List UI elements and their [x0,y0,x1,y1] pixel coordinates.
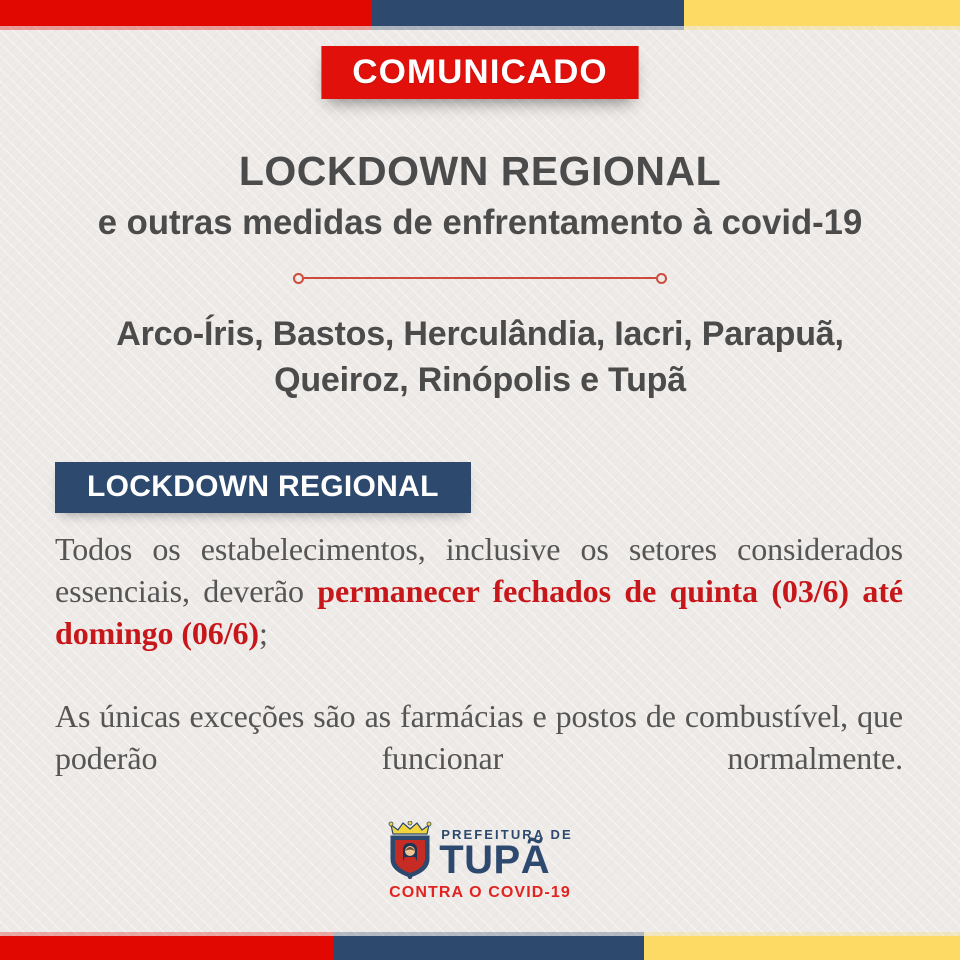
decorative-divider [0,270,960,286]
paragraph-exceptions: As únicas exceções são as farmácias e po… [55,695,903,822]
paragraph-lockdown-dates: Todos os estabelecimentos, inclusive os … [55,528,903,655]
comunicado-banner: COMUNICADO [321,46,638,99]
divider-dot-right-icon [656,273,667,284]
bottom-color-bar [0,936,960,960]
poster: COMUNICADO LOCKDOWN REGIONAL e outras me… [0,0,960,960]
cities-line-2: Queiroz, Rinópolis e Tupã [40,358,920,404]
banner-container: COMUNICADO [0,46,960,99]
bottom-bar-segment-yellow [644,936,960,960]
logo-city-name: TUPÃ [439,842,573,879]
top-bar-segment-yellow [684,0,960,26]
bottom-bar-segment-blue [334,936,644,960]
body-content: Todos os estabelecimentos, inclusive os … [55,528,903,821]
cities-line-1: Arco-Íris, Bastos, Herculândia, Iacri, P… [40,312,920,358]
affected-cities-list: Arco-Íris, Bastos, Herculândia, Iacri, P… [40,312,920,404]
logo-row: PREFEITURA DE TUPÃ [387,821,573,879]
page-subtitle: e outras medidas de enfrentamento à covi… [5,202,955,244]
coat-of-arms-icon [387,821,433,879]
divider-dot-left-icon [293,273,304,284]
bottom-bar-segment-red [0,936,334,960]
headline-block: LOCKDOWN REGIONAL e outras medidas de en… [0,148,960,244]
top-bar-segment-blue [372,0,684,26]
top-bar-segment-red [0,0,372,26]
page-title: LOCKDOWN REGIONAL [0,148,960,195]
paragraph1-text-part2: ; [259,615,268,651]
top-color-bar [0,0,960,26]
divider-inner [293,273,667,284]
divider-line [304,277,656,279]
logo-text: PREFEITURA DE TUPÃ [439,828,573,879]
prefeitura-logo: PREFEITURA DE TUPÃ CONTRA O COVID-19 [0,821,960,902]
section-badge-lockdown-regional: LOCKDOWN REGIONAL [55,462,471,513]
logo-tagline: CONTRA O COVID-19 [389,884,571,902]
